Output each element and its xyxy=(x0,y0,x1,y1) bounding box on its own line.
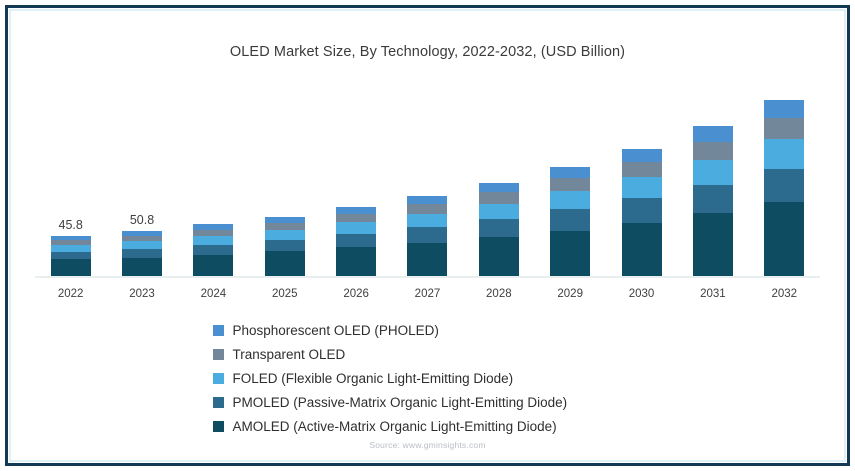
bar-slot xyxy=(606,88,677,276)
plot-area: 45.850.8 xyxy=(35,88,820,278)
bar-value-label: 45.8 xyxy=(51,218,91,236)
legend-swatch-icon xyxy=(213,397,224,408)
x-tick-2024: 2024 xyxy=(178,288,249,300)
bar-segment-pmoled xyxy=(764,169,804,203)
bar-segment-pholed xyxy=(693,126,733,141)
bar-segment-amoled xyxy=(193,255,233,276)
legend-swatch-icon xyxy=(213,373,224,384)
bar-segment-amoled xyxy=(622,223,662,276)
bar-segment-amoled xyxy=(693,213,733,276)
bar-slot xyxy=(463,88,534,276)
bar-segment-pholed xyxy=(336,207,376,214)
stacked-bar[interactable] xyxy=(265,217,305,276)
x-tick-2028: 2028 xyxy=(463,288,534,300)
stacked-bar[interactable] xyxy=(479,183,519,276)
bar-segment-pmoled xyxy=(193,245,233,255)
stacked-bar[interactable] xyxy=(193,224,233,276)
bar-segment-pholed xyxy=(550,167,590,178)
bar-segment-foled xyxy=(336,222,376,233)
x-tick-2025: 2025 xyxy=(249,288,320,300)
x-tick-2029: 2029 xyxy=(535,288,606,300)
bar-slot xyxy=(677,88,748,276)
bar-segment-pholed xyxy=(479,183,519,193)
legend-item-label: FOLED (Flexible Organic Light-Emitting D… xyxy=(233,371,514,386)
bar-segment-transparent-oled xyxy=(479,192,519,203)
x-axis-baseline xyxy=(35,276,820,278)
x-tick-2026: 2026 xyxy=(320,288,391,300)
bar-segment-amoled xyxy=(764,202,804,276)
bar-segment-foled xyxy=(407,214,447,227)
bar-segment-foled xyxy=(764,139,804,168)
bar-segment-foled xyxy=(122,241,162,248)
chart-title: OLED Market Size, By Technology, 2022-20… xyxy=(0,44,855,60)
legend-item[interactable]: FOLED (Flexible Organic Light-Emitting D… xyxy=(213,366,643,390)
x-tick-2023: 2023 xyxy=(106,288,177,300)
source-attribution: Source: www.gminsights.com xyxy=(0,440,855,450)
legend-item-label: Phosphorescent OLED (PHOLED) xyxy=(233,323,439,338)
legend-item[interactable]: AMOLED (Active-Matrix Organic Light-Emit… xyxy=(213,414,643,438)
bar-segment-foled xyxy=(193,236,233,245)
bar-segment-pmoled xyxy=(479,219,519,237)
legend-swatch-icon xyxy=(213,325,224,336)
bar-segment-amoled xyxy=(336,247,376,276)
stacked-bar[interactable] xyxy=(550,167,590,276)
bar-segment-transparent-oled xyxy=(622,162,662,177)
bar-segment-pmoled xyxy=(51,252,91,260)
legend-item-label: PMOLED (Passive-Matrix Organic Light-Emi… xyxy=(233,395,568,410)
bar-segment-transparent-oled xyxy=(407,204,447,214)
bar-segment-pmoled xyxy=(336,234,376,247)
x-tick-2022: 2022 xyxy=(35,288,106,300)
stacked-bar[interactable] xyxy=(693,126,733,276)
x-tick-2031: 2031 xyxy=(677,288,748,300)
x-tick-2030: 2030 xyxy=(606,288,677,300)
bar-segment-transparent-oled xyxy=(764,118,804,139)
bar-segment-amoled xyxy=(51,259,91,276)
bar-slot xyxy=(178,88,249,276)
bar-segment-pmoled xyxy=(622,198,662,223)
bar-segment-pholed xyxy=(764,100,804,118)
bar-group: 45.850.8 xyxy=(35,88,820,276)
stacked-bar[interactable] xyxy=(622,148,662,276)
chart-figure: OLED Market Size, By Technology, 2022-20… xyxy=(0,0,855,471)
bar-value-label: 50.8 xyxy=(122,213,162,231)
legend-item[interactable]: PMOLED (Passive-Matrix Organic Light-Emi… xyxy=(213,390,643,414)
bar-segment-amoled xyxy=(265,251,305,276)
bar-segment-pmoled xyxy=(265,240,305,252)
bar-segment-pholed xyxy=(407,196,447,204)
bar-segment-foled xyxy=(51,245,91,252)
legend-item[interactable]: Phosphorescent OLED (PHOLED) xyxy=(213,318,643,342)
bar-segment-foled xyxy=(550,191,590,209)
bar-slot xyxy=(249,88,320,276)
bar-segment-transparent-oled xyxy=(336,214,376,222)
bar-slot xyxy=(320,88,391,276)
legend-item-label: Transparent OLED xyxy=(233,347,346,362)
bar-segment-amoled xyxy=(550,231,590,276)
stacked-bar[interactable] xyxy=(336,207,376,276)
bar-segment-transparent-oled xyxy=(693,142,733,160)
bar-segment-pmoled xyxy=(407,227,447,243)
bar-segment-foled xyxy=(265,230,305,240)
bar-segment-foled xyxy=(693,160,733,185)
bar-segment-pmoled xyxy=(550,209,590,230)
bar-segment-foled xyxy=(479,204,519,220)
chart-legend: Phosphorescent OLED (PHOLED)Transparent … xyxy=(0,318,855,438)
stacked-bar[interactable] xyxy=(764,100,804,276)
bar-segment-pmoled xyxy=(122,249,162,258)
bar-segment-amoled xyxy=(122,258,162,277)
bar-segment-pholed xyxy=(622,149,662,162)
bar-slot xyxy=(535,88,606,276)
legend-item[interactable]: Transparent OLED xyxy=(213,342,643,366)
bar-segment-transparent-oled xyxy=(550,178,590,191)
legend-swatch-icon xyxy=(213,349,224,360)
stacked-bar[interactable]: 45.8 xyxy=(51,236,91,276)
x-tick-2032: 2032 xyxy=(749,288,820,300)
bar-segment-foled xyxy=(622,177,662,198)
bar-slot: 45.8 xyxy=(35,88,106,276)
x-axis-tick-labels: 2022202320242025202620272028202920302031… xyxy=(35,288,820,300)
legend-item-label: AMOLED (Active-Matrix Organic Light-Emit… xyxy=(233,419,557,434)
bar-segment-amoled xyxy=(479,237,519,276)
stacked-bar[interactable] xyxy=(407,196,447,276)
bar-segment-transparent-oled xyxy=(265,223,305,230)
stacked-bar[interactable]: 50.8 xyxy=(122,231,162,276)
legend-swatch-icon xyxy=(213,421,224,432)
x-tick-2027: 2027 xyxy=(392,288,463,300)
bar-slot xyxy=(392,88,463,276)
bar-slot: 50.8 xyxy=(106,88,177,276)
bar-segment-pmoled xyxy=(693,185,733,214)
bar-slot xyxy=(749,88,820,276)
bar-segment-amoled xyxy=(407,243,447,276)
